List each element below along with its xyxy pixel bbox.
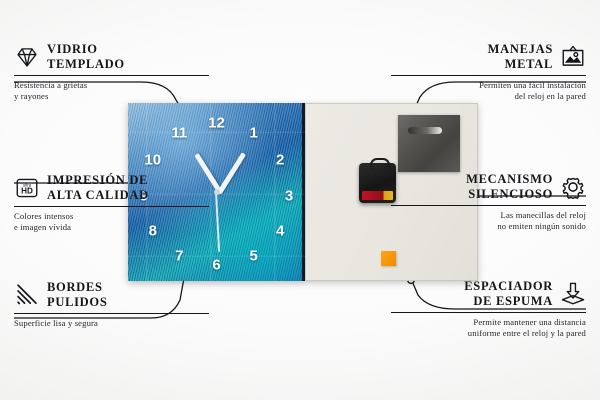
clock-numeral-3: 3	[285, 188, 293, 203]
clock-center-cap	[214, 189, 220, 195]
callout-title-line2: SILENCIOSO	[466, 187, 553, 202]
callout-title-line2: DE ESPUMA	[464, 294, 553, 309]
clock-numeral-10: 10	[144, 152, 161, 167]
clock-numeral-2: 2	[276, 152, 284, 167]
callout-rule	[391, 312, 586, 314]
callout-description: Superficie lisa y segura	[14, 318, 209, 329]
callout-mecanismo-silencioso: MECANISMO SILENCIOSO Las manecillas del …	[391, 172, 586, 233]
callout-header: ultra HD IMPRESIÓN DE ALTA CALIDAD	[14, 173, 209, 203]
callout-title-line1: MANEJAS	[488, 42, 553, 57]
clock-second-hand	[215, 192, 220, 252]
callout-title-line2: PULIDOS	[47, 295, 107, 310]
clock-minute-hand	[217, 152, 246, 195]
callout-rule	[14, 313, 209, 315]
clock-numeral-4: 4	[276, 224, 284, 239]
callout-title-line1: MECANISMO	[466, 172, 553, 187]
battery-label	[362, 191, 393, 200]
clock-numeral-5: 5	[249, 249, 257, 264]
clock-numeral-12: 12	[208, 115, 225, 130]
callout-description: Permiten una fácil instalación del reloj…	[391, 80, 586, 103]
callout-title-line1: ESPACIADOR	[464, 279, 553, 294]
metal-hanger-plate	[398, 115, 460, 172]
down-arrow-pad-icon	[560, 281, 586, 307]
picture-frame-hanger-icon	[560, 44, 586, 70]
polished-edge-icon	[14, 282, 40, 308]
callout-description: Permite mantener una distancia uniforme …	[391, 317, 586, 340]
callout-manejas-metal: MANEJAS METAL Permiten una fácil instala…	[391, 42, 586, 103]
ultra-hd-icon: ultra HD	[14, 175, 40, 201]
callout-header: ESPACIADOR DE ESPUMA	[391, 279, 586, 309]
callout-bordes-pulidos: BORDES PULIDOS Superficie lisa y segura	[14, 280, 209, 329]
callout-description: Resistencia a grietas y rayones	[14, 80, 209, 103]
callout-rule	[391, 75, 586, 77]
callout-impresion-alta-calidad: ultra HD IMPRESIÓN DE ALTA CALIDAD Color…	[14, 173, 209, 234]
callout-header: BORDES PULIDOS	[14, 280, 209, 310]
callout-title-line2: METAL	[488, 57, 553, 72]
callout-title-line2: TEMPLADO	[47, 57, 125, 72]
callout-rule	[14, 75, 209, 77]
callout-title-line1: VIDRIO	[47, 42, 125, 57]
callout-rule	[391, 205, 586, 207]
gear-icon	[560, 174, 586, 200]
diamond-icon	[14, 44, 40, 70]
callout-header: MECANISMO SILENCIOSO	[391, 172, 586, 202]
callout-header: VIDRIO TEMPLADO	[14, 42, 209, 72]
infographic-canvas: 12 1 2 3 4 5 6 7 8 9 10 11	[0, 0, 600, 400]
clock-numeral-7: 7	[175, 249, 183, 264]
callout-description: Colores intensos e imagen vívida	[14, 211, 209, 234]
movement-hanger-loop	[370, 158, 390, 169]
callout-description: Las manecillas del reloj no emiten ningú…	[391, 210, 586, 233]
callout-title-line2: ALTA CALIDAD	[47, 188, 149, 203]
callout-header: MANEJAS METAL	[391, 42, 586, 72]
callout-rule	[14, 206, 209, 208]
hanger-slot	[408, 127, 442, 134]
callout-espaciador-espuma: ESPACIADOR DE ESPUMA Permite mantener un…	[391, 279, 586, 340]
callout-title-line1: IMPRESIÓN DE	[47, 173, 149, 188]
clock-numeral-1: 1	[249, 126, 257, 141]
clock-numeral-11: 11	[171, 126, 187, 141]
callout-vidrio-templado: VIDRIO TEMPLADO Resistencia a grietas y …	[14, 42, 209, 103]
foam-spacer	[381, 251, 396, 266]
clock-numeral-6: 6	[212, 257, 220, 272]
svg-text:HD: HD	[21, 186, 33, 195]
callout-title-line1: BORDES	[47, 280, 107, 295]
